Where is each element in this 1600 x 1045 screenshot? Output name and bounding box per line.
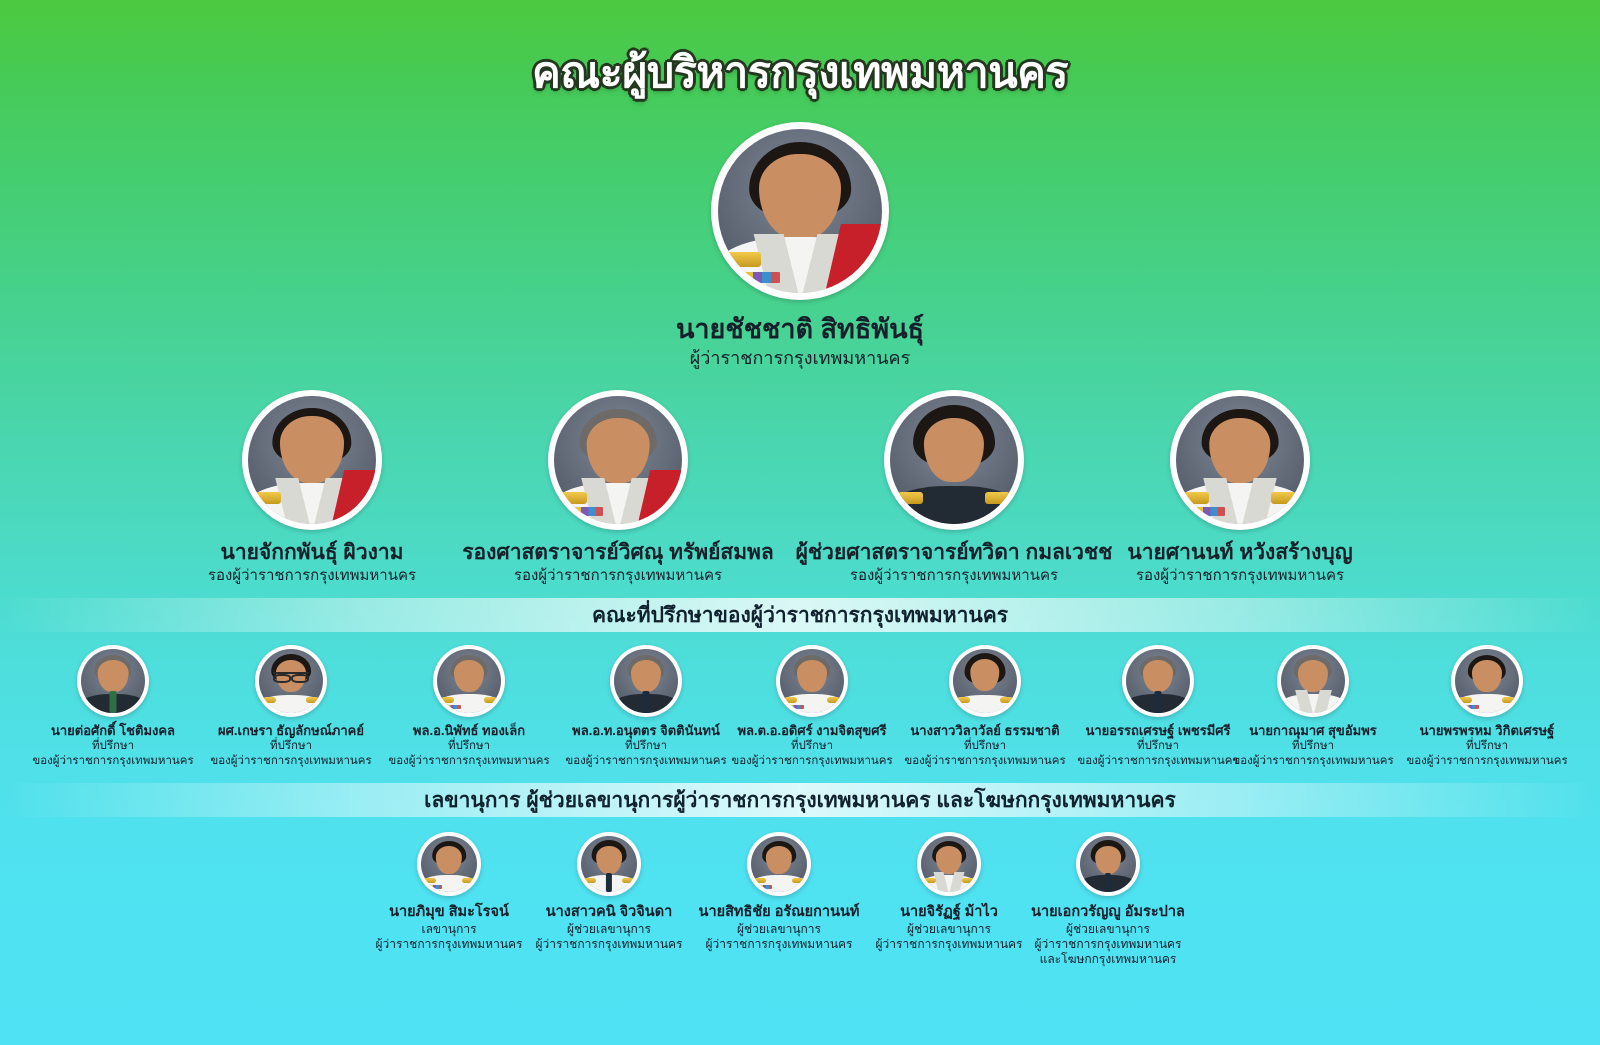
person-role-line1: ผู้ช่วยเลขานุการ — [1008, 922, 1208, 936]
portrait-deputy-1 — [242, 390, 382, 530]
section-heading: เลขานุการ ผู้ช่วยเลขานุการผู้ว่าราชการกร… — [424, 784, 1176, 817]
person-card-advisor-9[interactable]: นายพรพรหม วิกิตเศรษฐ์ ที่ปรึกษา ของผู้ว่… — [1382, 645, 1592, 769]
portrait-deputy-2 — [548, 390, 688, 530]
person-role: รองผู้ว่าราชการกรุงเทพมหานคร — [453, 567, 783, 585]
portrait-advisor-2 — [255, 645, 327, 717]
section-banner-secretaries: เลขานุการ ผู้ช่วยเลขานุการผู้ว่าราชการกร… — [0, 783, 1600, 817]
person-card-deputy-2[interactable]: รองศาสตราจารย์วิศณุ ทรัพย์สมพล รองผู้ว่า… — [453, 390, 783, 585]
person-name: ผู้ช่วยศาสตราจารย์ทวิดา กมลเวชช — [789, 541, 1119, 565]
portrait-secretary-4 — [917, 832, 981, 896]
portrait-advisor-8 — [1277, 645, 1349, 717]
person-name: นายพรพรหม วิกิตเศรษฐ์ — [1382, 724, 1592, 739]
person-name: นายจักกพันธุ์ ผิวงาม — [147, 541, 477, 565]
portrait-governor — [711, 122, 889, 300]
section-heading: คณะที่ปรึกษาของผู้ว่าราชการกรุงเทพมหานคร — [592, 599, 1008, 632]
portrait-secretary-5 — [1076, 832, 1140, 896]
portrait-advisor-6 — [949, 645, 1021, 717]
person-role: รองผู้ว่าราชการกรุงเทพมหานคร — [789, 567, 1119, 585]
person-card-deputy-4[interactable]: นายศานนท์ หวังสร้างบุญ รองผู้ว่าราชการกร… — [1075, 390, 1405, 585]
person-role: ผู้ว่าราชการกรุงเทพมหานคร — [600, 348, 1000, 370]
person-role-line2: ของผู้ว่าราชการกรุงเทพมหานคร — [1382, 755, 1592, 769]
portrait-advisor-4 — [610, 645, 682, 717]
portrait-advisor-7 — [1122, 645, 1194, 717]
person-card-governor[interactable]: นายชัชชาติ สิทธิพันธุ์ ผู้ว่าราชการกรุงเ… — [600, 122, 1000, 370]
person-role: รองผู้ว่าราชการกรุงเทพมหานคร — [147, 567, 477, 585]
portrait-secretary-3 — [747, 832, 811, 896]
portrait-advisor-5 — [776, 645, 848, 717]
portrait-deputy-3 — [884, 390, 1024, 530]
org-chart-page: คณะผู้บริหารกรุงเทพมหานคร นายชัชชาติ สิท… — [0, 0, 1600, 1045]
section-banner-advisors: คณะที่ปรึกษาของผู้ว่าราชการกรุงเทพมหานคร — [0, 598, 1600, 632]
portrait-secretary-1 — [417, 832, 481, 896]
person-name: รองศาสตราจารย์วิศณุ ทรัพย์สมพล — [453, 541, 783, 565]
portrait-advisor-3 — [433, 645, 505, 717]
person-role: รองผู้ว่าราชการกรุงเทพมหานคร — [1075, 567, 1405, 585]
person-card-deputy-3[interactable]: ผู้ช่วยศาสตราจารย์ทวิดา กมลเวชช รองผู้ว่… — [789, 390, 1119, 585]
person-name: นายชัชชาติ สิทธิพันธุ์ — [600, 314, 1000, 345]
person-role-line2: ผู้ว่าราชการกรุงเทพมหานคร — [1008, 937, 1208, 951]
portrait-deputy-4 — [1170, 390, 1310, 530]
person-card-secretary-5[interactable]: นายเอกวรัญญู อัมระปาล ผู้ช่วยเลขานุการ ผ… — [1008, 832, 1208, 967]
person-name: นายเอกวรัญญู อัมระปาล — [1008, 904, 1208, 921]
person-name: นายศานนท์ หวังสร้างบุญ — [1075, 541, 1405, 565]
person-role-line3: และโฆษกกรุงเทพมหานคร — [1008, 952, 1208, 966]
person-card-deputy-1[interactable]: นายจักกพันธุ์ ผิวงาม รองผู้ว่าราชการกรุง… — [147, 390, 477, 585]
portrait-advisor-1 — [77, 645, 149, 717]
portrait-secretary-2 — [577, 832, 641, 896]
page-title: คณะผู้บริหารกรุงเทพมหานคร — [0, 38, 1600, 106]
portrait-advisor-9 — [1451, 645, 1523, 717]
person-role-line1: ที่ปรึกษา — [1382, 740, 1592, 754]
